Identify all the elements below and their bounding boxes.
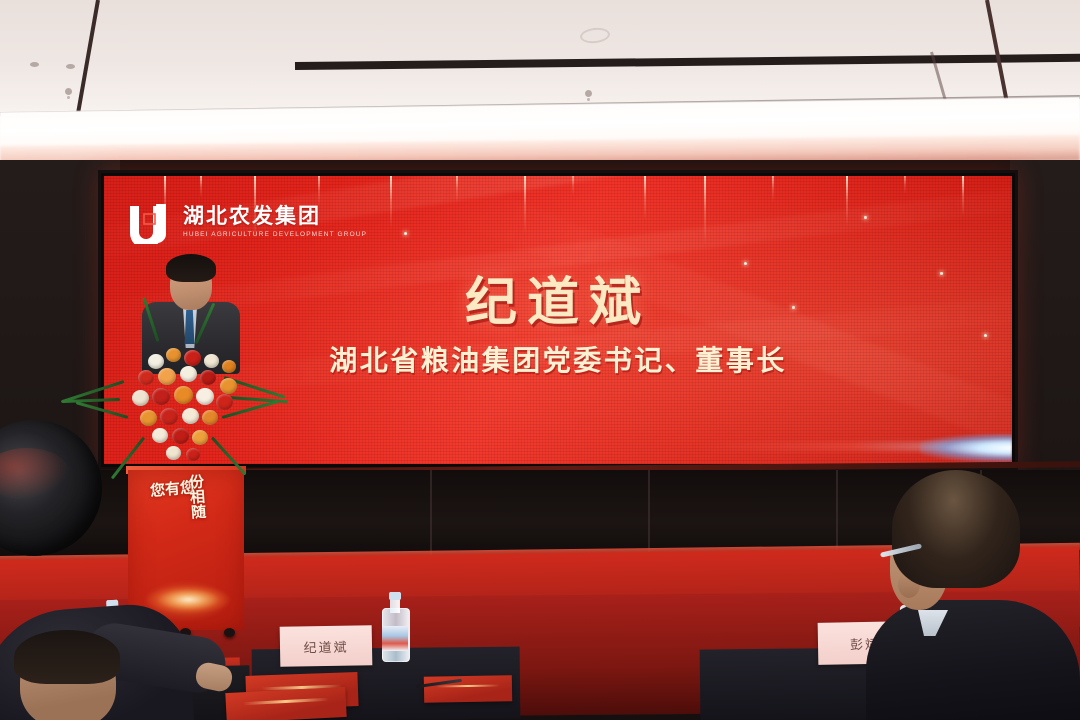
company-logo: 湖北农发集团 HUBEI AGRICULTURE DEVELOPMENT GRO… (126, 200, 367, 244)
ceiling (0, 0, 1080, 172)
attendee-foreground-right (866, 470, 1080, 720)
conference-stage-photo: 湖北农发集团 HUBEI AGRICULTURE DEVELOPMENT GRO… (0, 0, 1080, 720)
namecard-left: 纪道斌 (280, 625, 373, 667)
water-bottle (382, 592, 408, 662)
screen-accent-glow (920, 434, 1012, 462)
nj-monogram-logo-icon (126, 200, 174, 244)
speaker-name-headline: 纪道斌 (104, 260, 1012, 335)
podium-calligraphy-line-2: 份相随 (184, 473, 208, 519)
ceiling-seam-primary (295, 54, 1080, 70)
speaker-hair (166, 254, 216, 282)
document-folder-foreground (225, 687, 346, 720)
air-vent-icon (579, 26, 610, 44)
smoke-detector-icon (30, 62, 39, 67)
sprinkler-head-icon (65, 88, 72, 95)
document-folder-center (424, 675, 512, 703)
attendee-right-shoulders (866, 600, 1080, 720)
smoke-detector-icon (66, 64, 75, 69)
ceiling-seam-left (76, 0, 100, 117)
flower-arrangement (104, 336, 280, 471)
attendee-foreground-left-hair (14, 630, 120, 684)
logo-english-name: HUBEI AGRICULTURE DEVELOPMENT GROUP (183, 231, 367, 238)
sprinkler-head-icon (585, 90, 592, 97)
logo-chinese-name: 湖北农发集团 (183, 206, 367, 227)
attendee-right-hair (892, 470, 1020, 588)
